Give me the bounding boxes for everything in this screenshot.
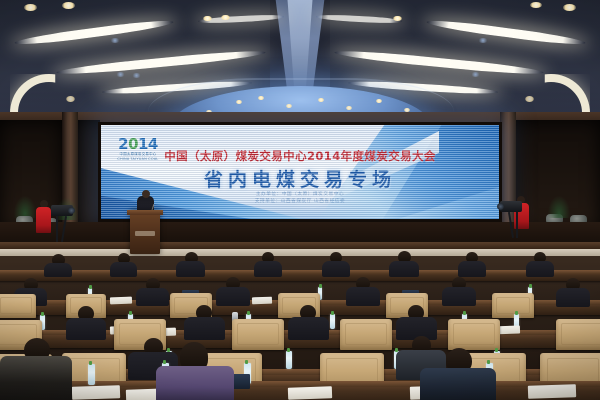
ceiling <box>0 0 600 128</box>
dome-recessed-light <box>236 100 242 104</box>
attendee <box>176 261 205 277</box>
screen-headline-secondary: 省内电煤交易专场 <box>101 165 499 192</box>
ceiling-spotlight <box>110 38 120 43</box>
chair <box>232 319 284 350</box>
document-paper <box>72 385 120 400</box>
chair <box>0 294 36 318</box>
led-screen: 2014 中国太原煤炭交易中心 CHINA TAIYUAN COAL 中国（太原… <box>101 125 499 219</box>
ceiling-spotlight <box>478 38 488 43</box>
attendee <box>184 317 225 340</box>
ceiling-spotlight <box>530 2 542 8</box>
attendee <box>526 261 554 277</box>
attendee <box>442 287 476 306</box>
document-paper <box>110 297 132 305</box>
audience-floor <box>0 256 600 400</box>
ceiling-spotlight <box>132 73 141 78</box>
tripod-leg <box>516 212 518 238</box>
podium-nameplate <box>135 231 155 236</box>
decorative-plant <box>548 196 570 218</box>
ceiling-spotlight <box>525 96 534 102</box>
attendee-foreground-purple <box>156 366 234 400</box>
attendee <box>110 262 137 277</box>
chair <box>556 319 600 350</box>
screen-supporter-line: 支持单位：山西省煤炭厅 山西省经信委 <box>101 198 499 204</box>
dome-recessed-light <box>258 96 264 100</box>
attendee <box>556 288 590 307</box>
dome-recessed-light <box>286 104 292 108</box>
ceiling-spotlight <box>563 4 576 11</box>
attendee <box>216 287 250 306</box>
camera-lens <box>68 207 75 214</box>
attendee <box>346 287 380 306</box>
water-bottle <box>286 351 292 369</box>
attendee <box>66 318 106 340</box>
ceiling-spotlight <box>221 15 230 20</box>
ceiling-spotlight <box>203 16 212 21</box>
ceiling-spotlight <box>116 72 125 77</box>
stage-edge <box>0 242 600 249</box>
attendee <box>136 288 169 306</box>
dome-recessed-light <box>346 106 352 110</box>
tripod-leg <box>56 216 58 242</box>
screen-organizer-line: 主办单位：中国（太原）煤炭交易中心 <box>101 191 499 197</box>
document-paper <box>252 297 272 305</box>
chair <box>492 293 534 318</box>
document-paper <box>528 384 576 399</box>
attendee <box>322 261 350 277</box>
attendee <box>389 261 419 277</box>
ceiling-spotlight <box>62 2 75 9</box>
dome-recessed-light <box>318 98 324 102</box>
chair <box>448 319 500 350</box>
led-screen-frame: 2014 中国太原煤炭交易中心 CHINA TAIYUAN COAL 中国（太原… <box>98 122 502 222</box>
ceiling-spotlight <box>24 4 37 11</box>
water-bottle <box>330 314 335 329</box>
attendee-foreground-right <box>420 368 496 400</box>
wall-panel-left-2 <box>78 120 100 230</box>
ceiling-spotlight <box>66 96 75 102</box>
operator-red-jacket <box>36 207 51 233</box>
attendee <box>288 317 329 340</box>
decorative-plant <box>14 196 36 218</box>
camera-lens <box>497 203 504 210</box>
attendee <box>254 261 282 277</box>
attendee <box>44 263 72 277</box>
ceiling-spotlight <box>471 72 480 77</box>
table-row <box>0 270 600 274</box>
podium <box>130 210 160 254</box>
conference-hall-photo: 2014 中国太原煤炭交易中心 CHINA TAIYUAN COAL 中国（太原… <box>0 0 600 400</box>
chair <box>340 319 392 350</box>
ceiling-spotlight <box>393 16 402 21</box>
document-paper <box>288 386 332 400</box>
water-bottle <box>88 364 95 385</box>
dome-recessed-light <box>376 99 382 103</box>
attendee-foreground-left <box>0 356 72 400</box>
screen-headline-primary: 中国（太原）煤炭交易中心2014年度煤炭交易大会 <box>101 148 499 164</box>
attendee <box>458 261 486 277</box>
